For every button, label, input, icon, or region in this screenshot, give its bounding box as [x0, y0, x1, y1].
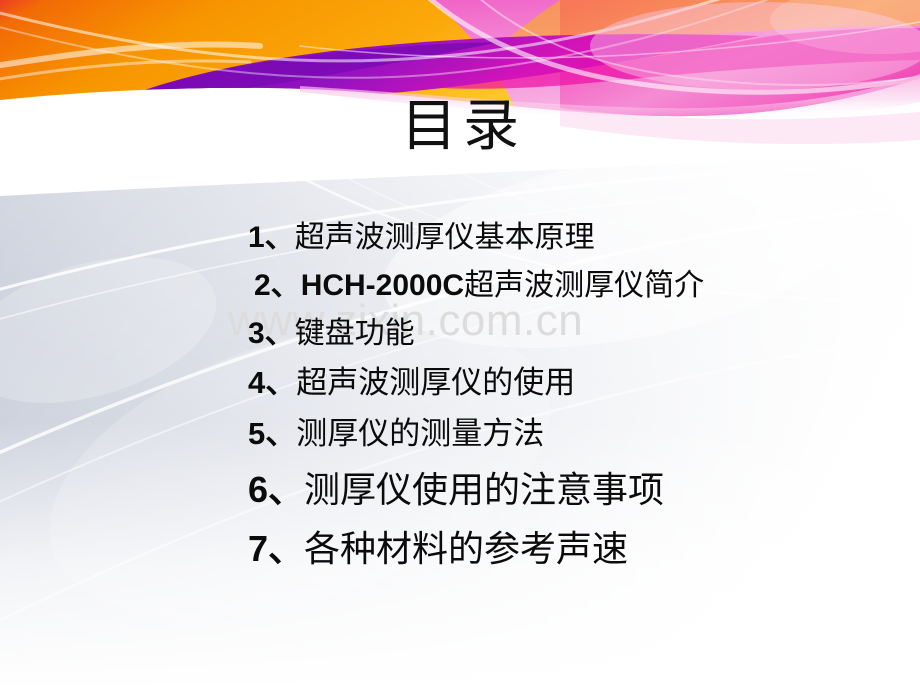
toc-item-2[interactable]: 2、HCH-2000C超声波测厚仪简介	[248, 262, 908, 310]
toc-item-label: 超声波测厚仪的使用	[296, 365, 575, 400]
toc-item-label: 超声波测厚仪简介	[464, 269, 704, 302]
toc-item-5[interactable]: 5、测厚仪的测量方法	[248, 408, 908, 460]
slide-title: 目录	[0, 96, 920, 158]
toc-item-number: 6、	[248, 469, 304, 510]
toc-item-number: 4、	[248, 365, 296, 400]
toc-item-label: 键盘功能	[295, 317, 415, 350]
toc-item-number: 2、	[254, 269, 301, 302]
toc-item-4[interactable]: 4、超声波测厚仪的使用	[248, 358, 908, 408]
toc-item-number: 3、	[248, 317, 295, 350]
toc-item-1[interactable]: 1、超声波测厚仪基本原理	[248, 214, 908, 262]
presentation-slide: www.zixin.com.cn 目录 1、超声波测厚仪基本原理 2、HCH-2…	[0, 0, 920, 690]
toc-item-label: 测厚仪的测量方法	[296, 416, 544, 451]
toc-item-3[interactable]: 3、键盘功能	[248, 310, 908, 358]
toc-item-model: HCH-2000C	[301, 269, 464, 302]
toc-item-7[interactable]: 7、各种材料的参考声速	[248, 520, 908, 578]
toc-item-6[interactable]: 6、测厚仪使用的注意事项	[248, 460, 908, 520]
toc-item-number: 5、	[248, 416, 296, 451]
toc-item-number: 1、	[248, 221, 295, 254]
toc-item-label: 各种材料的参考声速	[304, 529, 628, 569]
table-of-contents-list: 1、超声波测厚仪基本原理 2、HCH-2000C超声波测厚仪简介 3、键盘功能 …	[248, 214, 908, 578]
toc-item-number: 7、	[248, 528, 304, 569]
toc-item-label: 超声波测厚仪基本原理	[295, 221, 595, 254]
toc-item-label: 测厚仪使用的注意事项	[304, 470, 664, 510]
